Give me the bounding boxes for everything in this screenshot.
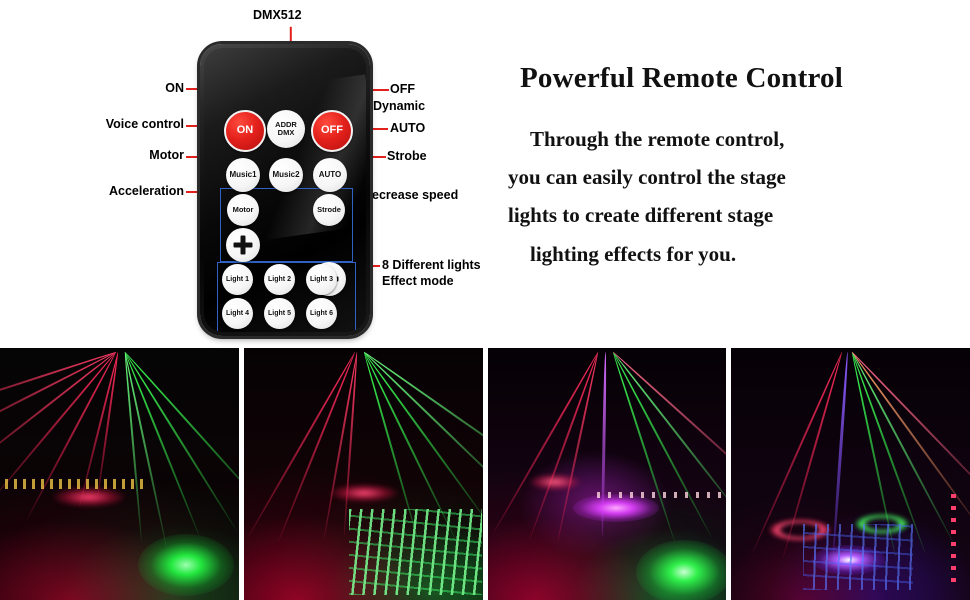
- callout-dmx512: DMX512: [253, 8, 302, 24]
- product-photo-strip: [0, 348, 970, 600]
- callout-dynamic: Dynamic: [373, 99, 425, 115]
- button-strobe[interactable]: Strode: [313, 194, 345, 226]
- remote-diagram-panel: DMX512 ON Voice control Motor Accelerati…: [0, 0, 500, 345]
- marketing-copy-panel: Powerful Remote Control Through the remo…: [490, 0, 970, 345]
- button-music1[interactable]: Music1: [226, 158, 260, 192]
- callout-effect-mode: 8 Different lights Effect mode: [382, 258, 482, 289]
- photo-1-dot-pattern: [5, 479, 143, 489]
- button-addr-dmx-line2: DMX: [278, 129, 295, 137]
- callout-auto: AUTO: [390, 121, 425, 137]
- photo-3-dot-line: [597, 492, 721, 498]
- paragraph-line-1: Through the remote control,: [508, 120, 938, 158]
- callout-motor: Motor: [149, 148, 184, 164]
- button-off[interactable]: OFF: [311, 110, 353, 152]
- callout-acceleration: Acceleration: [109, 184, 184, 200]
- plus-icon-vertical: [241, 236, 246, 255]
- body-paragraph: Through the remote control, you can easi…: [508, 120, 938, 273]
- button-light3[interactable]: Light 3: [306, 264, 337, 295]
- callout-decrease-speed: Decrease speed: [363, 188, 458, 204]
- button-light4[interactable]: Light 4: [222, 298, 253, 329]
- button-light2[interactable]: Light 2: [264, 264, 295, 295]
- button-light1[interactable]: Light 1: [222, 264, 253, 295]
- photo-2-green-dot-matrix: [349, 509, 483, 595]
- paragraph-line-4: lighting effects for you.: [508, 235, 938, 273]
- photo-3: [488, 348, 727, 600]
- product-infographic: DMX512 ON Voice control Motor Accelerati…: [0, 0, 970, 600]
- photo-1-red-floor-burst: [53, 487, 125, 507]
- photo-3-green-starburst: [636, 540, 727, 600]
- button-light6[interactable]: Light 6: [306, 298, 337, 329]
- button-light5[interactable]: Light 5: [264, 298, 295, 329]
- paragraph-line-3: lights to create different stage: [508, 196, 938, 234]
- button-auto[interactable]: AUTO: [313, 158, 347, 192]
- photo-1: [0, 348, 239, 600]
- remote-control-body: ON ADDR DMX OFF Music1 Music2 AUTO Motor…: [200, 44, 370, 336]
- callout-on: ON: [165, 81, 184, 97]
- remote-faceplate: ON ADDR DMX OFF Music1 Music2 AUTO Motor…: [204, 48, 366, 332]
- button-music2[interactable]: Music2: [269, 158, 303, 192]
- headline: Powerful Remote Control: [520, 62, 940, 95]
- button-motor[interactable]: Motor: [227, 194, 259, 226]
- paragraph-line-2: you can easily control the stage: [508, 158, 938, 196]
- photo-4: [731, 348, 970, 600]
- photo-2: [244, 348, 483, 600]
- photo-4-red-dot-column: [951, 494, 956, 590]
- photo-4-blue-dot-field: [803, 524, 913, 590]
- button-increase-speed[interactable]: [226, 228, 260, 262]
- callout-strobe: Strobe: [387, 149, 427, 165]
- button-addr-dmx[interactable]: ADDR DMX: [267, 110, 305, 148]
- photo-2-red-floor-burst: [330, 484, 398, 502]
- callout-off: OFF: [390, 82, 415, 98]
- button-on[interactable]: ON: [224, 110, 266, 152]
- callout-voice-control: Voice control: [106, 117, 184, 133]
